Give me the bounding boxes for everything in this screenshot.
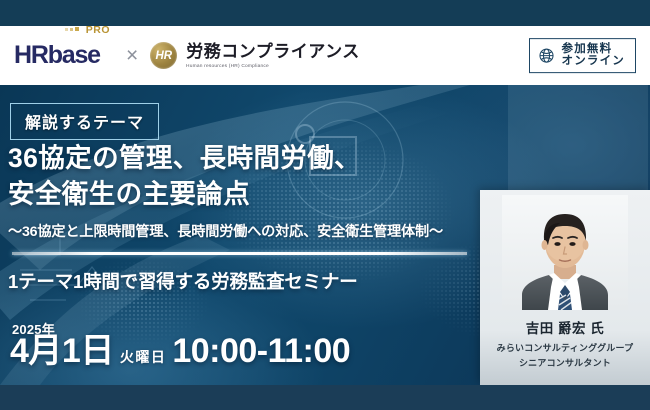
partner-logo[interactable]: HR 労務コンプライアンス Human resources (HR) Compl…	[150, 42, 359, 69]
free-badge-line2: オンライン	[562, 56, 626, 69]
speaker-photo	[502, 195, 628, 310]
event-date: 4月1日	[10, 334, 114, 368]
header-band: PRO HRbase × HR 労務コンプライアンス Human resourc…	[0, 26, 650, 85]
subtitle-text: ～36協定と上限時間管理、長時間労働への対応、安全衛生管理体制～	[8, 221, 443, 241]
title-line-1: 36協定の管理、長時間労働、	[8, 141, 508, 177]
partner-name: 労務コンプライアンス	[186, 43, 359, 62]
speaker-company: みらいコンサルティンググループ	[497, 341, 634, 354]
speaker-panel: 吉田 爵宏 氏 みらいコンサルティンググループ シニアコンサルタント	[480, 190, 650, 385]
free-online-badge[interactable]: 参加無料 オンライン	[529, 38, 637, 74]
seminar-banner: PRO HRbase × HR 労務コンプライアンス Human resourc…	[0, 0, 650, 410]
cross-separator-icon: ×	[126, 45, 138, 66]
top-navy-bar	[0, 0, 650, 26]
free-badge-line1: 参加無料	[562, 43, 626, 56]
date-time-block: 4月1日 火曜日 10:00-11:00	[10, 334, 350, 368]
hr-circle-badge-icon: HR	[150, 42, 177, 69]
globe-icon	[538, 47, 555, 64]
horizontal-divider	[12, 252, 467, 255]
speaker-name: 吉田 爵宏 氏	[526, 317, 605, 337]
bottom-navy-bar	[0, 385, 650, 410]
theme-label-text: 解説するテーマ	[25, 115, 144, 132]
seminar-tagline: 1テーマ1時間で習得する労務監査セミナー	[8, 268, 358, 294]
logo-dots-icon	[65, 27, 79, 31]
speaker-role: シニアコンサルタント	[519, 356, 611, 369]
partner-subtitle: Human resources (HR) Compliance	[186, 63, 368, 68]
theme-label-box: 解説するテーマ	[10, 103, 159, 140]
hrbase-wordmark: HRbase	[14, 43, 110, 68]
page-title: 36協定の管理、長時間労働、 安全衛生の主要論点	[8, 141, 508, 212]
event-time: 10:00-11:00	[172, 334, 350, 368]
event-weekday: 火曜日	[120, 347, 167, 367]
hrbase-logo[interactable]: PRO HRbase	[14, 43, 110, 68]
title-line-2: 安全衛生の主要論点	[8, 177, 508, 213]
